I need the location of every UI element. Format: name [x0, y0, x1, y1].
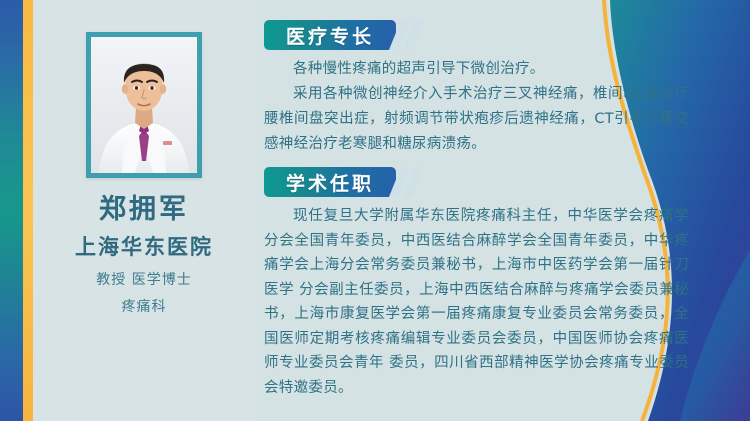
section-medical-specialty: 医疗专长 各种慢性疼痛的超声引导下微创治疗。 采用各种微创神经介入手术治疗三叉神… [264, 20, 689, 157]
section-body-medical-specialty: 各种慢性疼痛的超声引导下微创治疗。 采用各种微创神经介入手术治疗三叉神经痛，椎间… [264, 57, 689, 157]
slash-decoration [390, 167, 418, 197]
paragraph: 各种慢性疼痛的超声引导下微创治疗。 [264, 57, 689, 82]
slash-decoration [390, 20, 418, 50]
doctor-profile-poster: 郑拥军 上海华东医院 教授 医学博士 疼痛科 医疗专长 各种慢性疼痛的超声引导下… [0, 0, 750, 421]
doctor-hospital: 上海华东医院 [75, 237, 213, 258]
section-body-academic-positions: 现任复旦大学附属华东医院疼痛科主任，中华医学会疼痛学分会全国青年委员，中西医结合… [264, 204, 689, 400]
doctor-name: 郑拥军 [99, 196, 189, 223]
paragraph: 现任复旦大学附属华东医院疼痛科主任，中华医学会疼痛学分会全国青年委员，中西医结合… [264, 204, 689, 400]
doctor-credentials: 教授 医学博士 [96, 273, 191, 287]
section-header-academic-positions: 学术任职 [264, 167, 689, 197]
section-title-badge: 学术任职 [264, 167, 396, 197]
profile-column: 郑拥军 上海华东医院 教授 医学博士 疼痛科 [33, 0, 255, 421]
section-academic-positions: 学术任职 现任复旦大学附属华东医院疼痛科主任，中华医学会疼痛学分会全国青年委员，… [264, 167, 689, 400]
portrait-frame [86, 32, 202, 178]
left-yellow-bar [23, 0, 33, 421]
section-header-medical-specialty: 医疗专长 [264, 20, 689, 50]
left-gradient-bar [0, 0, 23, 421]
content-column: 医疗专长 各种慢性疼痛的超声引导下微创治疗。 采用各种微创神经介入手术治疗三叉神… [255, 0, 695, 421]
portrait-illustration [91, 37, 197, 173]
doctor-portrait-photo [91, 37, 197, 173]
doctor-department: 疼痛科 [122, 300, 167, 314]
paragraph: 采用各种微创神经介入手术治疗三叉神经痛，椎间t孔镜治疗腰椎间盘突出症，射频调节带… [264, 82, 689, 157]
section-title-badge: 医疗专长 [264, 20, 396, 50]
